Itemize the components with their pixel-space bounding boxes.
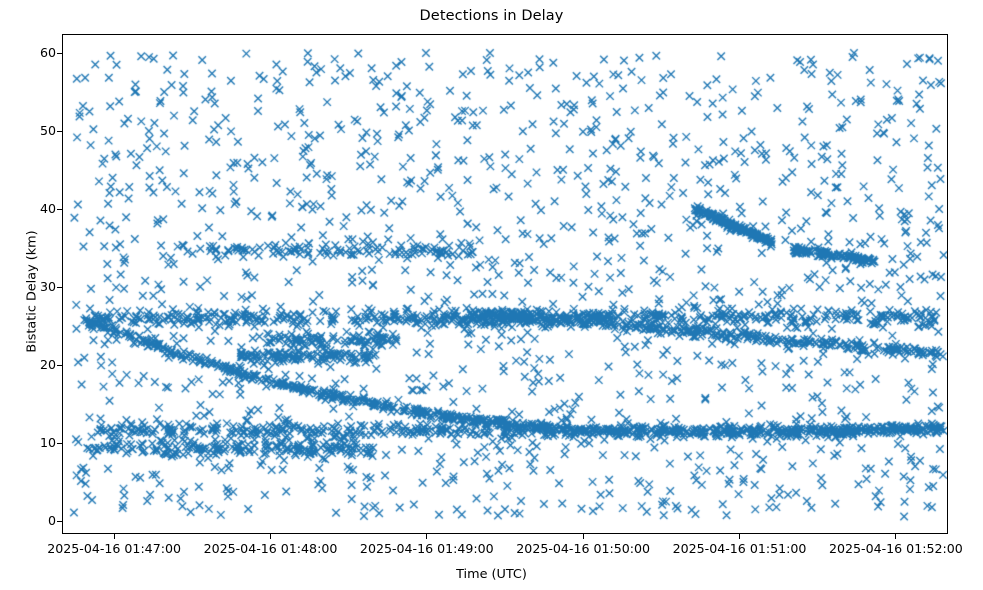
y-axis-tick-mark <box>57 443 63 444</box>
x-axis-tick-label: 2025-04-16 01:50:00 <box>516 542 650 556</box>
y-axis-tick-label: 50 <box>22 125 56 138</box>
x-axis-tick-mark <box>583 533 584 539</box>
scatter-plot-canvas <box>63 35 948 534</box>
plot-axes-area <box>62 34 948 534</box>
page-title: Detections in Delay <box>0 8 983 24</box>
y-axis-tick-mark <box>57 209 63 210</box>
x-axis-tick-mark <box>270 533 271 539</box>
x-axis-tick-mark <box>114 533 115 539</box>
y-axis-tick-mark <box>57 287 63 288</box>
x-axis-tick-label: 2025-04-16 01:49:00 <box>360 542 494 556</box>
x-axis-tick-label: 2025-04-16 01:47:00 <box>47 542 181 556</box>
x-axis-tick-label: 2025-04-16 01:51:00 <box>673 542 807 556</box>
y-axis-label: Bistatic Delay (km) <box>25 212 40 372</box>
y-axis-tick-label: 60 <box>22 47 56 60</box>
x-axis-tick-mark <box>426 533 427 539</box>
y-axis-tick-mark <box>57 53 63 54</box>
x-axis-tick-label: 2025-04-16 01:48:00 <box>204 542 338 556</box>
x-axis-tick-label: 2025-04-16 01:52:00 <box>829 542 963 556</box>
x-axis-tick-mark <box>895 533 896 539</box>
x-axis-label: Time (UTC) <box>0 567 983 582</box>
y-axis-tick-label: 0 <box>22 515 56 528</box>
y-axis-tick-mark <box>57 521 63 522</box>
x-axis-tick-mark <box>739 533 740 539</box>
y-axis-tick-label: 10 <box>22 437 56 450</box>
y-axis-tick-mark <box>57 131 63 132</box>
y-axis-tick-mark <box>57 365 63 366</box>
matplotlib-figure: Detections in Delay 0102030405060 2025-0… <box>0 0 983 590</box>
